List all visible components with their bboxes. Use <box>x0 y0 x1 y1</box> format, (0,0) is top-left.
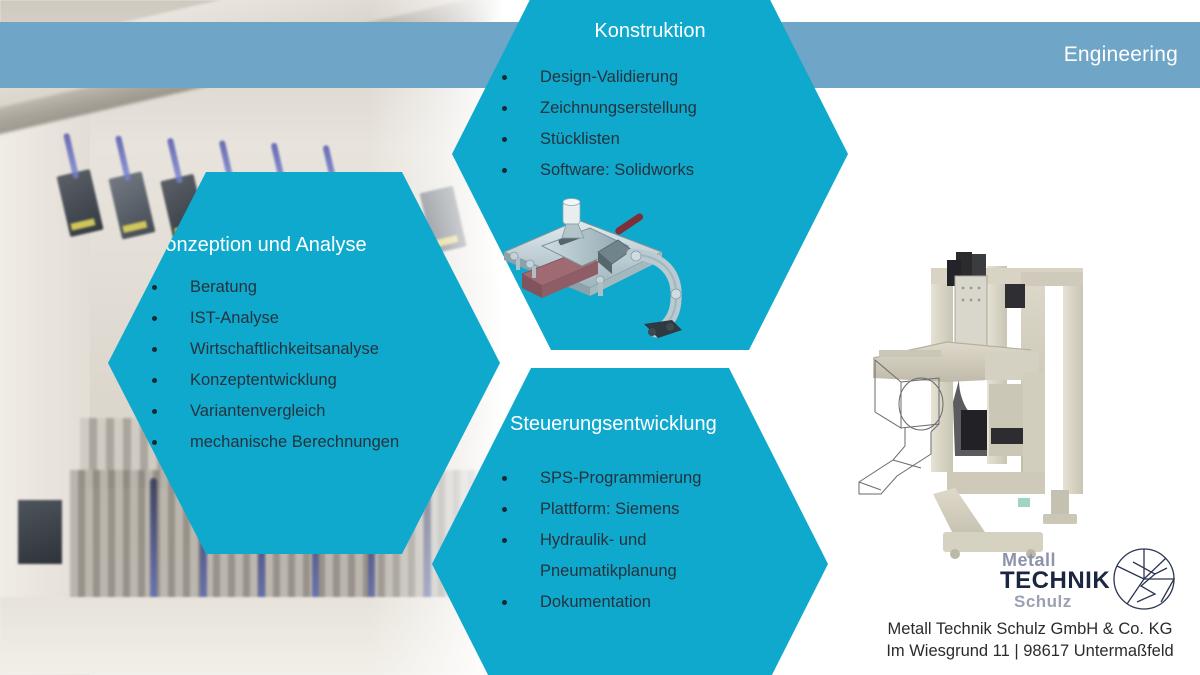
list-item: IST-Analyse <box>152 303 399 334</box>
hexagon-steuerung-list: SPS-Programmierung Plattform: Siemens Hy… <box>502 463 701 618</box>
hexagon-konzeption-list: Beratung IST-Analyse Wirtschaftlichkeits… <box>152 272 399 458</box>
hexagon-konstruktion-list: Design-Validierung Zeichnungserstellung … <box>502 62 697 186</box>
list-item: Design-Validierung <box>502 62 697 93</box>
logo-mark-icon <box>1111 546 1177 612</box>
list-item: Software: Solidworks <box>502 155 697 186</box>
background-dark-module <box>18 500 62 564</box>
hexagon-konzeption-title: Konzeption und Analyse <box>152 234 367 257</box>
list-item: mechanische Berechnungen <box>152 427 399 458</box>
list-item: Variantenvergleich <box>152 396 399 427</box>
list-item: SPS-Programmierung <box>502 463 701 494</box>
logo-text-technik: TECHNIK <box>1000 567 1110 595</box>
list-item: Stücklisten <box>502 124 697 155</box>
machine-photo <box>835 232 1093 570</box>
list-item: Hydraulik- und <box>502 525 701 556</box>
company-address: Im Wiesgrund 11 | 98617 Untermaßfeld <box>860 640 1200 662</box>
logo-text-schulz: Schulz <box>1014 592 1072 612</box>
list-item: Dokumentation <box>502 587 701 618</box>
cad-render <box>486 196 712 342</box>
company-name: Metall Technik Schulz GmbH & Co. KG <box>860 618 1200 640</box>
list-item: Plattform: Siemens <box>502 494 701 525</box>
company-logo: Metall TECHNIK Schulz <box>1000 548 1175 614</box>
hexagon-steuerung-title: Steuerungsentwicklung <box>510 413 717 436</box>
slide: Engineering <box>0 0 1200 675</box>
list-item: Zeichnungserstellung <box>502 93 697 124</box>
list-item: Pneumatikplanung <box>502 556 701 587</box>
list-item: Wirtschaftlichkeitsanalyse <box>152 334 399 365</box>
page-title: Engineering <box>1064 43 1178 67</box>
machine-illustration <box>835 232 1093 570</box>
list-item: Konzeptentwicklung <box>152 365 399 396</box>
company-info: Metall Technik Schulz GmbH & Co. KG Im W… <box>860 618 1200 662</box>
list-item: Beratung <box>152 272 399 303</box>
cad-illustration <box>486 196 712 342</box>
